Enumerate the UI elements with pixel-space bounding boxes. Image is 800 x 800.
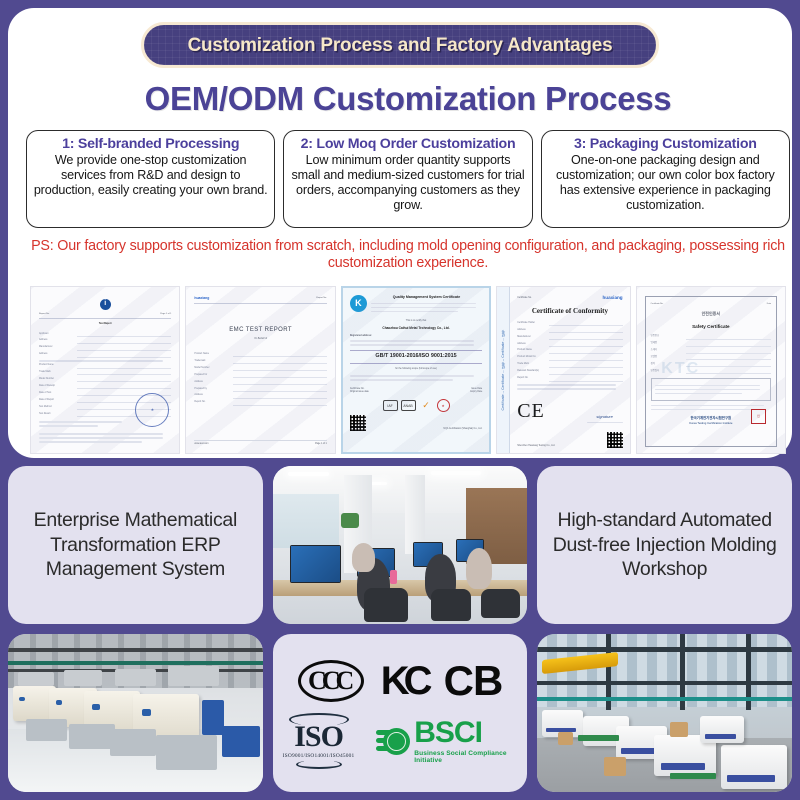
bsci-wordmark: BSCI bbox=[414, 718, 517, 748]
feature-2-title: 2: Low Moq Order Customization bbox=[301, 136, 516, 152]
certificate-of-conformity: Certificate -- Certificate -- 证书 -- Cert… bbox=[496, 286, 630, 454]
logo-row-secondary: ISO ISO9001/ISO14001/ISO45001 BSCI Busin… bbox=[283, 713, 518, 769]
banner-pill: Customization Process and Factory Advant… bbox=[141, 22, 659, 68]
red-seal-icon: 인 bbox=[751, 409, 766, 424]
certificate-strip: i Report No.Page 1 of 1 Test Report Appl… bbox=[30, 286, 786, 454]
logo-row-primary: CCC KC CB bbox=[298, 657, 503, 705]
bottom-tile-grid: Enterprise Mathematical Transformation E… bbox=[8, 466, 792, 792]
bsci-tagline: Business Social Compliance Initiative bbox=[414, 750, 517, 764]
certificate-test-report: i Report No.Page 1 of 1 Test Report Appl… bbox=[30, 286, 180, 454]
page-title: OEM/ODM Customization Process bbox=[8, 80, 800, 118]
feature-box-2: 2: Low Moq Order Customization Low minim… bbox=[283, 130, 532, 228]
qr-code-icon bbox=[607, 432, 623, 448]
infographic-page: Customization Process and Factory Advant… bbox=[0, 0, 800, 800]
cb-logo-icon: CB bbox=[444, 660, 503, 702]
cert-header: Report No.Page 1 of 1 bbox=[39, 313, 171, 319]
tile-erp-label: Enterprise Mathematical Transformation E… bbox=[22, 508, 249, 583]
office-workspace-image bbox=[273, 466, 528, 624]
anab-logo-icon: ANAB bbox=[401, 400, 416, 411]
tile-injection-label: High-standard Automated Dust-free Inject… bbox=[551, 508, 778, 583]
iso-wordmark: ISO bbox=[294, 722, 343, 752]
feature-2-body: Low minimum order quantity supports smal… bbox=[290, 153, 525, 213]
cert-title: Test Report bbox=[39, 323, 171, 326]
tile-injection-workshop: High-standard Automated Dust-free Inject… bbox=[537, 466, 792, 624]
cert-title: Safety Certificate bbox=[651, 324, 771, 331]
injection-molding-workshop-image bbox=[537, 634, 792, 792]
iaf-logo-icon: IAF bbox=[383, 400, 398, 411]
feature-1-body: We provide one-stop customization servic… bbox=[33, 153, 268, 198]
feature-box-3: 3: Packaging Customization One-on-one pa… bbox=[541, 130, 790, 228]
qr-code-icon bbox=[350, 415, 366, 431]
tile-machines-photo-left bbox=[8, 634, 263, 792]
certificate-safety: Certificate No.Date KTC 안전인증서 Safety Cer… bbox=[636, 286, 786, 454]
injection-molding-machines-image bbox=[8, 634, 263, 792]
tile-office-photo bbox=[273, 466, 528, 624]
ccc-logo-icon: CCC bbox=[298, 660, 364, 702]
tile-certification-logos: CCC KC CB ISO ISO9001/ISO14001/ISO45001 bbox=[273, 634, 528, 792]
feature-box-list: 1: Self-branded Processing We provide on… bbox=[26, 130, 790, 228]
ps-note: PS: Our factory supports customization f… bbox=[8, 238, 800, 273]
cert-subtitle: On Behalf of bbox=[194, 338, 326, 341]
cert-title: Certificate of Conformity bbox=[517, 306, 622, 316]
tile-machines-photo-right bbox=[537, 634, 792, 792]
iso-logo-icon: ISO ISO9001/ISO14001/ISO45001 bbox=[283, 713, 355, 769]
bsci-globe-icon bbox=[376, 724, 410, 758]
iso-laurel-icon bbox=[296, 760, 342, 769]
kc-logo-icon: KC bbox=[384, 657, 424, 705]
certifier-logo-icon: K bbox=[350, 295, 367, 312]
top-content-card: Customization Process and Factory Advant… bbox=[8, 8, 792, 458]
tile-erp-system: Enterprise Mathematical Transformation E… bbox=[8, 466, 263, 624]
cert-footer: NQA Certification (Shanghai) Co., Ltd. bbox=[366, 428, 482, 431]
ktc-watermark: KTC bbox=[661, 357, 700, 380]
iso-standards-label: ISO9001/ISO14001/ISO45001 bbox=[283, 753, 355, 759]
cert-title: EMC TEST REPORT bbox=[194, 326, 326, 335]
feature-3-title: 3: Packaging Customization bbox=[574, 136, 757, 152]
feature-1-title: 1: Self-branded Processing bbox=[62, 136, 239, 152]
seal-icon: ★ bbox=[437, 399, 450, 412]
feature-box-1: 1: Self-branded Processing We provide on… bbox=[26, 130, 275, 228]
cert-title: Quality Management System Certificate bbox=[371, 295, 482, 300]
certificate-quality-management-system: K Quality Management System Certificate … bbox=[341, 286, 491, 454]
cert-brand: huaxiang bbox=[602, 295, 622, 302]
cert-brand: huaxiang bbox=[194, 296, 209, 301]
cert-footer: Shenzhen Huaxiang Testing Co., Ltd. bbox=[517, 445, 555, 448]
ce-mark-icon: CE bbox=[517, 397, 545, 426]
banner-title: Customization Process and Factory Advant… bbox=[188, 34, 613, 57]
certificate-emc-test-report: huaxiang Report No. EMC TEST REPORT On B… bbox=[185, 286, 335, 454]
feature-3-body: One-on-one packaging design and customiz… bbox=[548, 153, 783, 213]
cert-side-label: Certificate -- Certificate -- 证书 -- Cert… bbox=[497, 287, 510, 453]
accreditation-logo-row: IAF ANAB ✓ ★ bbox=[350, 399, 482, 412]
cert-standard: GB/T 19001-2016/ISO 9001:2015 bbox=[350, 350, 482, 364]
cert-title-kr: 안전인증서 bbox=[651, 311, 771, 317]
bsci-logo-icon: BSCI Business Social Compliance Initiati… bbox=[376, 718, 517, 764]
lab-logo-icon: i bbox=[100, 299, 111, 310]
check-mark-icon: ✓ bbox=[419, 400, 434, 411]
cert-company: Chaozhou Caihui Metal Technology Co., Lt… bbox=[350, 326, 482, 331]
